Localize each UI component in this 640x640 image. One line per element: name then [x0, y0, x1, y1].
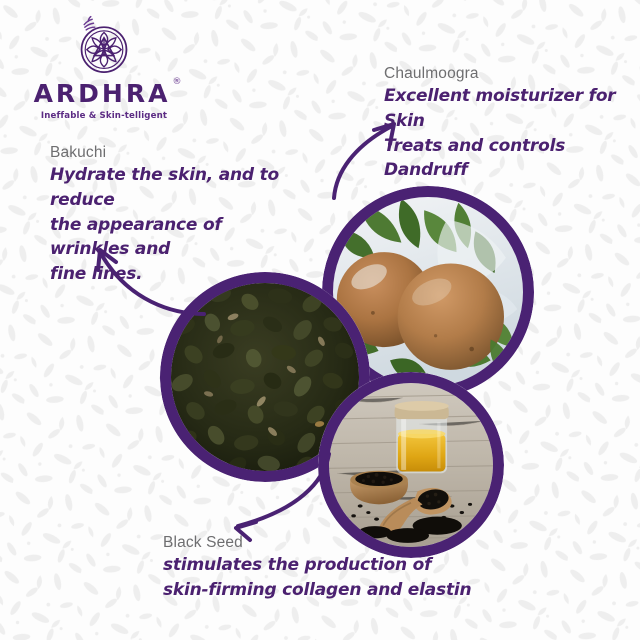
- ingredient-label-chaulmoogra: Chaulmoogra: [384, 64, 634, 83]
- ingredient-benefit-bakuchi: Hydrate the skin, and to reduce the appe…: [50, 163, 300, 286]
- text-block-bakuchi: Bakuchi Hydrate the skin, and to reduce …: [50, 143, 300, 287]
- logo-wordmark: ARDHRA®: [34, 81, 175, 106]
- benefit-line: Treats and controls Dandruff: [384, 134, 634, 183]
- ingredient-benefit-chaulmoogra: Excellent moisturizer for Skin Treats an…: [384, 84, 634, 183]
- arrow-to-black-seed: [198, 452, 333, 544]
- benefit-line: Excellent moisturizer for Skin: [384, 84, 634, 133]
- ingredient-benefit-black-seed: stimulates the production of skin-firmin…: [163, 553, 503, 602]
- benefit-line: skin-firming collagen and elastin: [163, 578, 503, 603]
- benefit-line: Hydrate the skin, and to reduce: [50, 163, 300, 212]
- text-block-black-seed: Black Seed stimulates the production of …: [163, 533, 503, 603]
- ingredient-label-bakuchi: Bakuchi: [50, 143, 300, 162]
- logo-wordmark-text: ARDHRA: [34, 79, 171, 108]
- text-block-chaulmoogra: Chaulmoogra Excellent moisturizer for Sk…: [384, 64, 634, 183]
- benefit-line: fine lines.: [50, 262, 300, 287]
- logo-tagline: Ineffable & Skin-telligent: [24, 111, 184, 121]
- ingredient-infographic: ARDHRA® Ineffable & Skin-telligent: [0, 0, 640, 640]
- black-seed-oil-photo: [329, 383, 493, 547]
- benefit-line: stimulates the production of: [163, 553, 503, 578]
- ingredient-label-black-seed: Black Seed: [163, 533, 503, 552]
- brand-logo: ARDHRA® Ineffable & Skin-telligent: [24, 14, 184, 121]
- lotus-chakra-icon: [71, 14, 137, 80]
- ingredient-circle-black-seed[interactable]: [318, 372, 504, 558]
- registered-trademark-icon: ®: [172, 78, 181, 87]
- benefit-line: the appearance of wrinkles and: [50, 213, 300, 262]
